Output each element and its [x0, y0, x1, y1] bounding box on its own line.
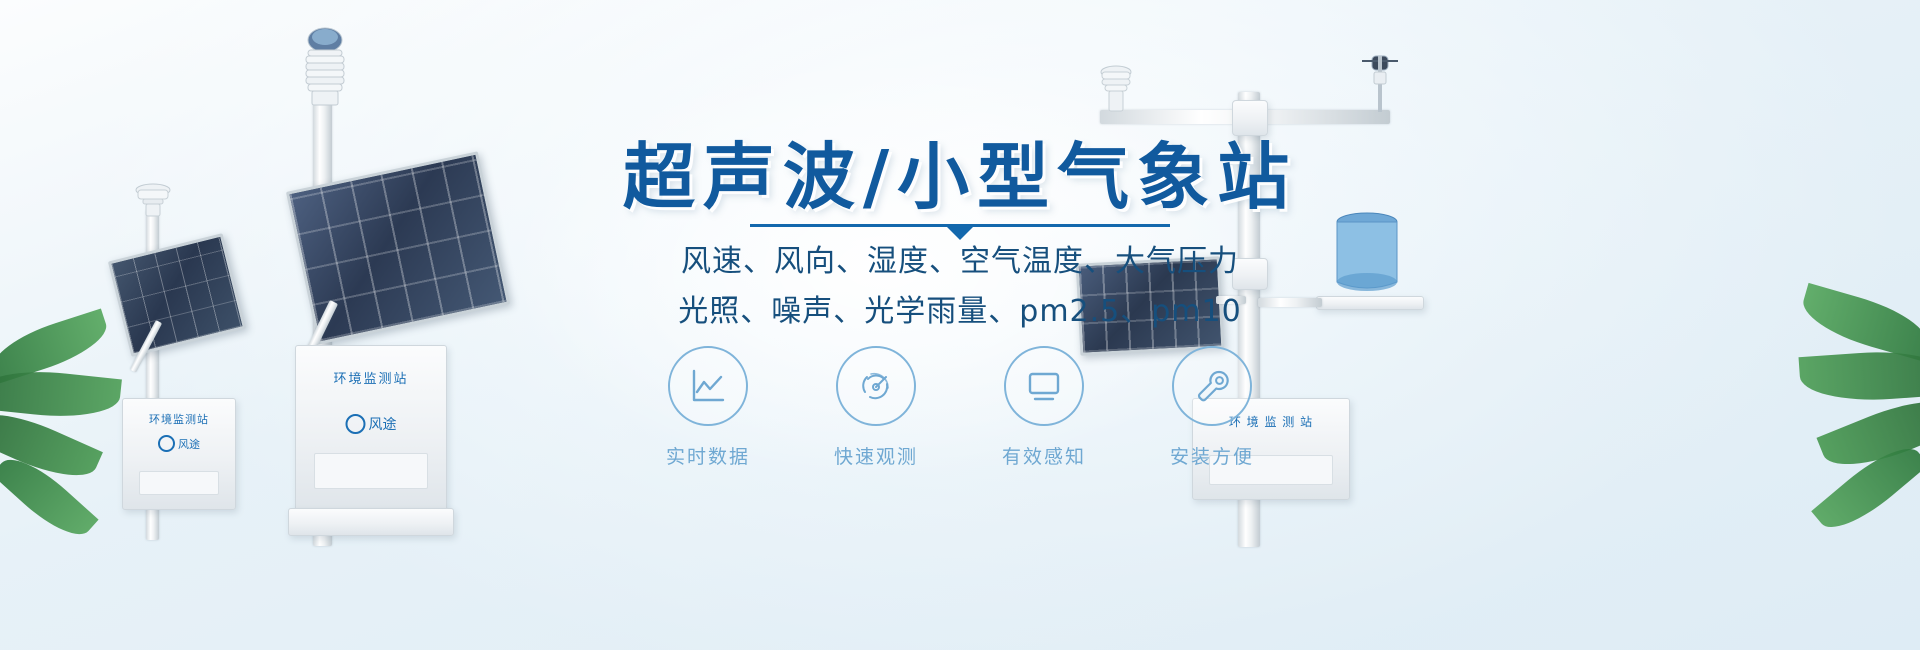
- feature-icon-circle: [836, 346, 916, 426]
- cabinet-brand-label: 风途: [178, 436, 200, 452]
- cabinet-tag-label: 环境监测站: [333, 368, 408, 387]
- feature-list: 实时数据 快速观测: [600, 346, 1320, 469]
- rain-gauge-icon: [1330, 210, 1404, 300]
- radiation-shield-sensor-icon: [292, 26, 358, 108]
- feature-item-effective-sensing[interactable]: 有效感知: [984, 346, 1104, 469]
- line-chart-icon: [688, 366, 728, 406]
- feature-icon-circle: [1172, 346, 1252, 426]
- feature-icon-circle: [1004, 346, 1084, 426]
- title-divider: [750, 224, 1170, 227]
- wind-vane-icon: [1358, 52, 1402, 116]
- wrench-icon: [1192, 366, 1232, 406]
- rain-gauge-shelf: [1316, 296, 1424, 310]
- cabinet-vent: [139, 471, 219, 495]
- feature-item-fast-observation[interactable]: 快速观测: [816, 346, 936, 469]
- equipment-cabinet: 环境监测站 风途: [295, 345, 447, 512]
- feature-label: 快速观测: [816, 442, 936, 469]
- solar-panel: [108, 233, 246, 357]
- banner-content: 超声波/小型气象站 风速、风向、湿度、空气温度、大气压力 光照、噪声、光学雨量、…: [600, 0, 1320, 650]
- feature-label: 实时数据: [648, 442, 768, 469]
- feature-label: 安装方便: [1152, 442, 1272, 469]
- cabinet-vent: [314, 453, 428, 489]
- feature-item-realtime-data[interactable]: 实时数据: [648, 346, 768, 469]
- banner-subtitle-line-2: 光照、噪声、光学雨量、pm2.5、pm10: [600, 286, 1320, 330]
- feature-label: 有效感知: [984, 442, 1104, 469]
- cabinet-brand: 风途: [346, 414, 397, 434]
- radar-icon: [856, 366, 896, 406]
- banner-subtitle-line-1: 风速、风向、湿度、空气温度、大气压力: [600, 236, 1320, 280]
- brand-mark-icon: [158, 435, 175, 452]
- cabinet-base: [288, 508, 454, 536]
- cabinet-tag-label: 环境监测站: [149, 411, 209, 427]
- feature-icon-circle: [668, 346, 748, 426]
- feature-item-easy-installation[interactable]: 安装方便: [1152, 346, 1272, 469]
- monitor-icon: [1024, 366, 1064, 406]
- cabinet-brand: 风途: [158, 435, 200, 452]
- brand-mark-icon: [346, 414, 366, 434]
- banner-title: 超声波/小型气象站: [600, 118, 1320, 223]
- cabinet-brand-label: 风途: [369, 414, 397, 434]
- product-banner: 环境监测站 风途: [0, 0, 1920, 650]
- equipment-cabinet: 环境监测站 风途: [122, 398, 236, 510]
- ultrasonic-anemometer-icon: [124, 182, 182, 218]
